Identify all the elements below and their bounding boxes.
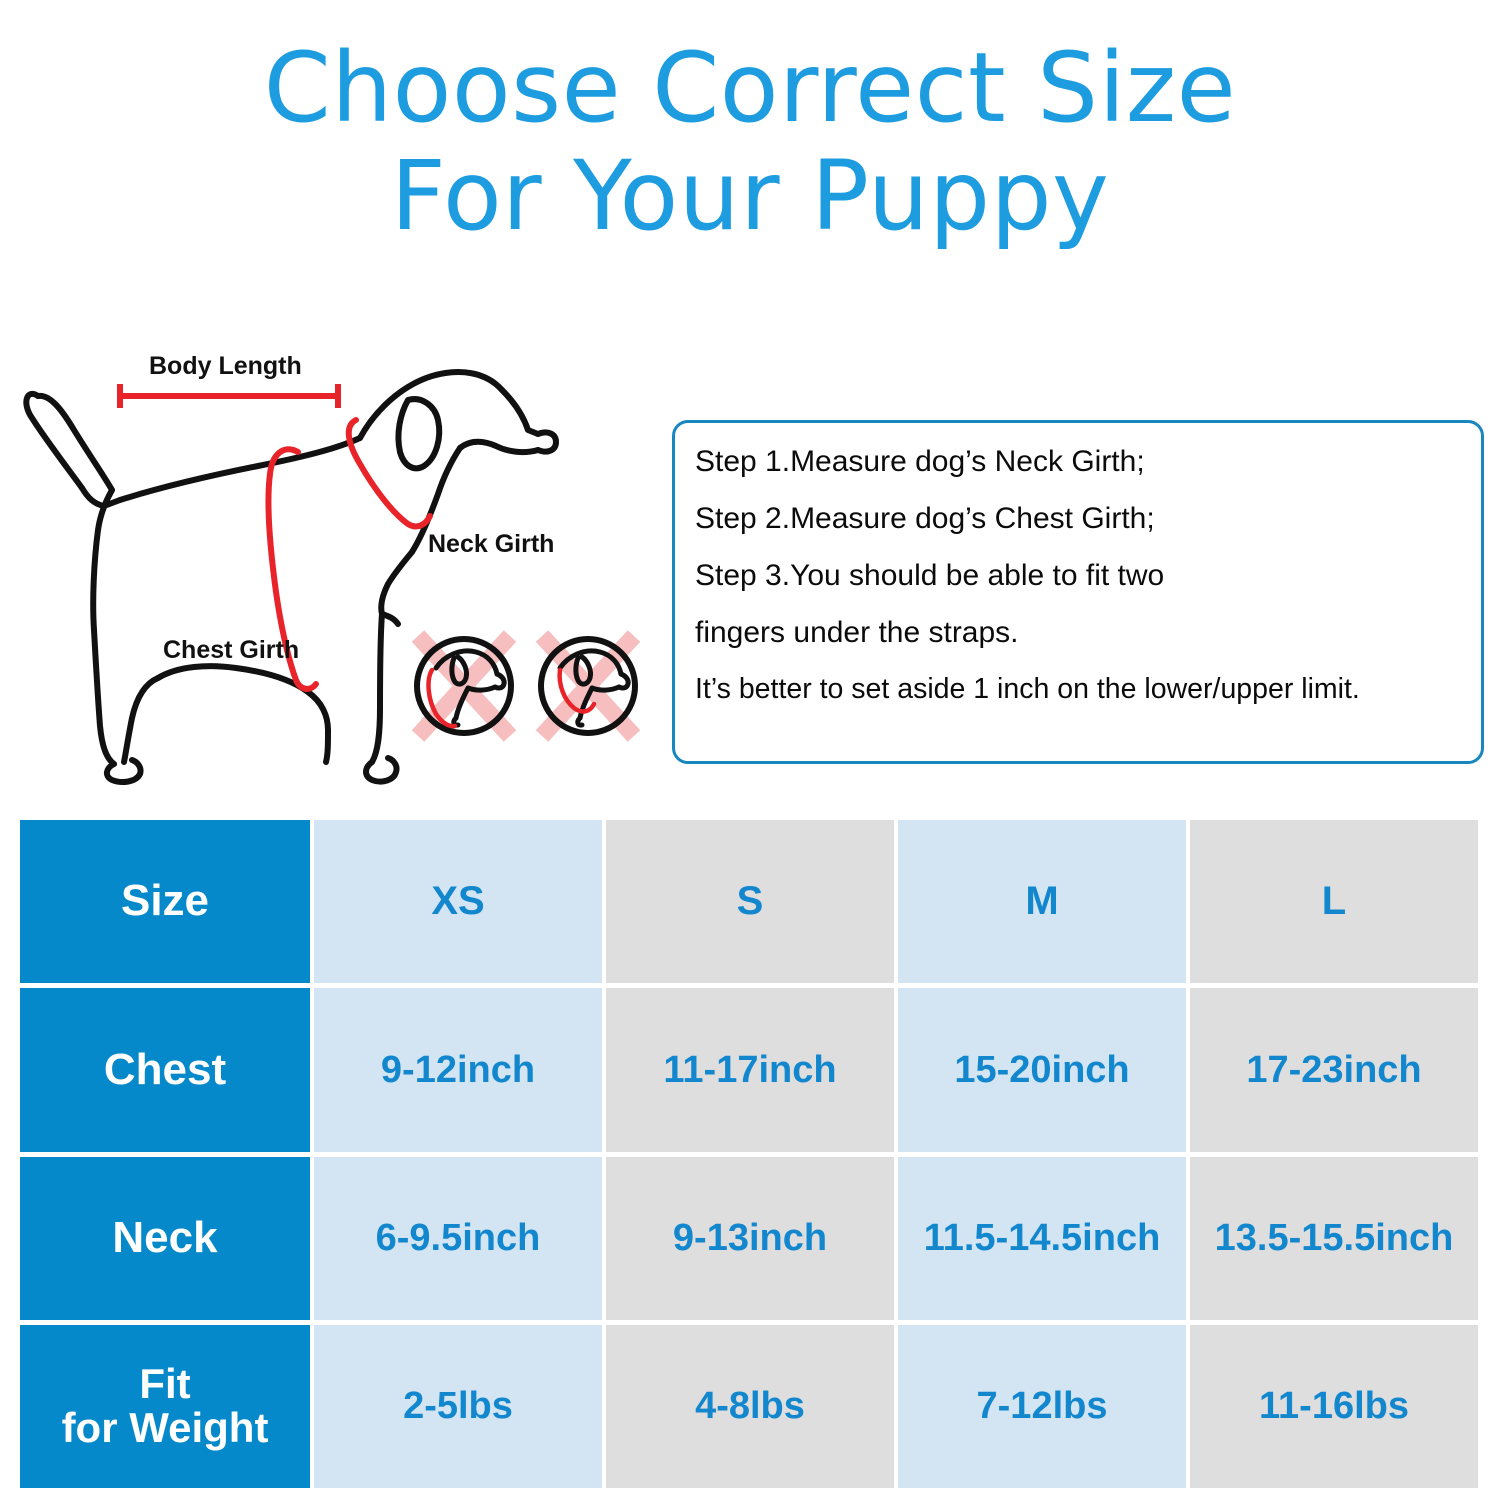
- dog-outline-icon: [26, 372, 556, 782]
- body-length-label: Body Length: [149, 352, 302, 380]
- wrong-fit-icon-1: [417, 636, 511, 736]
- chest-value-m: 15-20inch: [898, 988, 1186, 1151]
- step-line-5: It’s better to set aside 1 inch on the l…: [695, 675, 1481, 704]
- page-title-line-1: Choose Correct Size: [0, 38, 1500, 140]
- size-value-m: M: [898, 820, 1186, 983]
- size-value-s: S: [606, 820, 894, 983]
- step-line-1: Step 1.Measure dog’s Neck Girth;: [695, 447, 1481, 477]
- neck-value-l: 13.5-15.5inch: [1190, 1157, 1478, 1320]
- weight-value-s: 4-8lbs: [606, 1325, 894, 1488]
- weight-value-m: 7-12lbs: [898, 1325, 1186, 1488]
- step-line-2: Step 2.Measure dog’s Chest Girth;: [695, 504, 1481, 534]
- neck-value-m: 11.5-14.5inch: [898, 1157, 1186, 1320]
- wrong-fit-icon-2: [541, 636, 635, 736]
- chest-value-l: 17-23inch: [1190, 988, 1478, 1151]
- dog-measurement-diagram: Body Length Neck Girth Chest Girth: [8, 348, 668, 788]
- size-chart-page: Choose Correct Size For Your Puppy: [0, 0, 1500, 1500]
- table-row-label-chest: Chest: [20, 988, 310, 1151]
- step-line-4: fingers under the straps.: [695, 618, 1481, 648]
- size-value-xs: XS: [314, 820, 602, 983]
- neck-value-xs: 6-9.5inch: [314, 1157, 602, 1320]
- neck-value-s: 9-13inch: [606, 1157, 894, 1320]
- neck-girth-label: Neck Girth: [428, 530, 554, 558]
- weight-value-xs: 2-5lbs: [314, 1325, 602, 1488]
- chest-value-xs: 9-12inch: [314, 988, 602, 1151]
- step-line-3: Step 3.You should be able to fit two: [695, 561, 1481, 591]
- table-row-label-size: Size: [20, 820, 310, 983]
- chest-girth-label: Chest Girth: [163, 636, 299, 664]
- body-length-measure-line: [120, 384, 338, 408]
- chest-value-s: 11-17inch: [606, 988, 894, 1151]
- size-value-l: L: [1190, 820, 1478, 983]
- weight-value-l: 11-16lbs: [1190, 1325, 1478, 1488]
- size-table: Size XS S M L Chest 9-12inch 11-17inch 1…: [20, 820, 1478, 1488]
- measuring-steps-box: Step 1.Measure dog’s Neck Girth; Step 2.…: [672, 420, 1484, 764]
- table-row-label-weight: Fitfor Weight: [20, 1325, 310, 1488]
- page-title: Choose Correct Size For Your Puppy: [0, 38, 1500, 248]
- table-row-label-neck: Neck: [20, 1157, 310, 1320]
- page-title-line-2: For Your Puppy: [0, 146, 1500, 248]
